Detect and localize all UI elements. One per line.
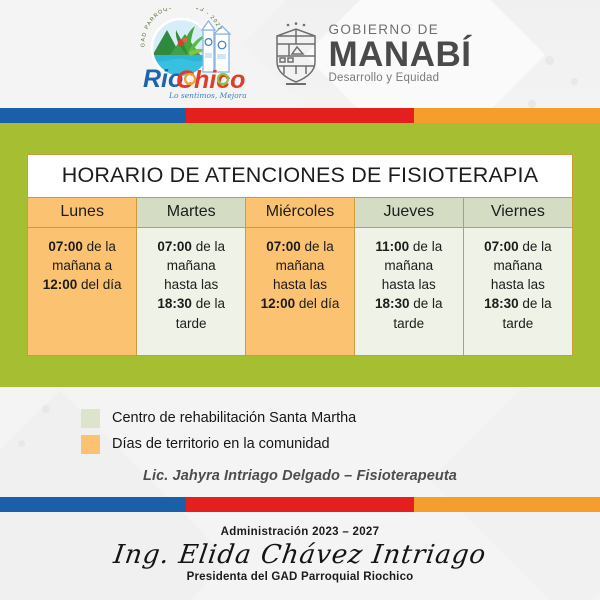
schedule-line: 18:30 de la (144, 294, 238, 313)
manabi-logo: GOBIERNO DE MANABÍ Desarrollo y Equidad (273, 22, 472, 86)
schedule-hours-martes: 07:00 de lamañanahasta las18:30 de latar… (137, 228, 246, 355)
schedule-day-header-viernes: Viernes (463, 198, 572, 228)
schedule-line: hasta las (253, 275, 347, 294)
legend-item: Días de territorio en la comunidad (81, 435, 600, 454)
schedule-time: 07:00 (48, 239, 83, 254)
signature-image: Ing. Elida Chávez Intriago (0, 540, 600, 570)
manabi-line2: MANABÍ (329, 38, 472, 71)
schedule-line: 18:30 de la (471, 294, 565, 313)
tricolor-segment-blue (0, 108, 186, 123)
schedule-line: 07:00 de la (144, 237, 238, 256)
schedule-title: HORARIO DE ATENCIONES DE FISIOTERAPIA (28, 155, 572, 198)
riochico-logo: GAD PARROQUIAL 2023 - 2027 Rio Chico Lo … (129, 8, 247, 100)
schedule-day-header-miércoles: Miércoles (246, 198, 355, 228)
tricolor-bar-top (0, 108, 600, 123)
legend-item: Centro de rehabilitación Santa Martha (81, 409, 600, 428)
schedule-time: 07:00 (157, 239, 192, 254)
schedule-time: 18:30 (375, 296, 410, 311)
tricolor-segment-red (186, 108, 414, 123)
schedule-day-header-jueves: Jueves (354, 198, 463, 228)
riochico-logo-icon: GAD PARROQUIAL 2023 - 2027 Rio Chico Lo … (129, 8, 247, 100)
schedule-time: 12:00 (261, 296, 296, 311)
schedule-line: mañana a (35, 256, 129, 275)
tricolor-segment-orange (414, 108, 600, 123)
schedule-hours-miércoles: 07:00 de lamañanahasta las12:00 del día (246, 228, 355, 355)
schedule-line: mañana (253, 256, 347, 275)
schedule-time: 11:00 (375, 239, 409, 254)
schedule-body-row: 07:00 de lamañana a12:00 del día07:00 de… (28, 228, 572, 355)
schedule-header-row: LunesMartesMiércolesJuevesViernes (28, 198, 572, 228)
schedule-time: 07:00 (266, 239, 301, 254)
administration-label: Administración 2023 – 2027 (0, 526, 600, 538)
schedule-line: 07:00 de la (253, 237, 347, 256)
tricolor-segment-red (186, 497, 414, 512)
riochico-slogan: Lo sentimos, Mejoramos (168, 91, 247, 100)
schedule-line: mañana (471, 256, 565, 275)
schedule-line: tarde (144, 314, 238, 333)
schedule-time: 12:00 (43, 277, 78, 292)
page-header: GAD PARROQUIAL 2023 - 2027 Rio Chico Lo … (0, 0, 600, 108)
schedule-line: mañana (144, 256, 238, 275)
tricolor-bar-bottom (0, 497, 600, 512)
schedule-line: 11:00 de la (362, 237, 456, 256)
legend-label: Centro de rehabilitación Santa Martha (112, 410, 356, 426)
schedule-line: 12:00 del día (35, 275, 129, 294)
legend-swatch (81, 409, 100, 428)
schedule-time: 18:30 (484, 296, 519, 311)
schedule-day-header-lunes: Lunes (28, 198, 137, 228)
schedule-hours-lunes: 07:00 de lamañana a12:00 del día (28, 228, 137, 355)
legend-label: Días de territorio en la comunidad (112, 436, 330, 452)
schedule-time: 18:30 (157, 296, 192, 311)
schedule-time: 07:00 (484, 239, 519, 254)
schedule-line: hasta las (362, 275, 456, 294)
schedule-hours-jueves: 11:00 de lamañanahasta las18:30 de latar… (354, 228, 463, 355)
schedule-line: mañana (362, 256, 456, 275)
tricolor-segment-blue (0, 497, 186, 512)
schedule-panel: HORARIO DE ATENCIONES DE FISIOTERAPIA Lu… (0, 123, 600, 387)
manabi-shield-icon (273, 22, 320, 86)
schedule-line: hasta las (144, 275, 238, 294)
schedule-line: 07:00 de la (471, 237, 565, 256)
legend-area: Centro de rehabilitación Santa MarthaDía… (0, 387, 600, 484)
therapist-name: Lic. Jahyra Intriago Delgado – Fisiotera… (0, 468, 600, 484)
position-label: Presidenta del GAD Parroquial Riochico (0, 571, 600, 583)
schedule-card: HORARIO DE ATENCIONES DE FISIOTERAPIA Lu… (27, 154, 573, 356)
schedule-line: 07:00 de la (35, 237, 129, 256)
manabi-line3: Desarrollo y Equidad (329, 73, 472, 85)
schedule-line: tarde (471, 314, 565, 333)
schedule-line: hasta las (471, 275, 565, 294)
legend-swatch (81, 435, 100, 454)
schedule-day-header-martes: Martes (137, 198, 246, 228)
tricolor-segment-orange (414, 497, 600, 512)
schedule-line: 12:00 del día (253, 294, 347, 313)
riochico-word-chico: Chico (176, 66, 245, 94)
page-footer: Administración 2023 – 2027 Ing. Elida Ch… (0, 512, 600, 583)
poster-canvas: GAD PARROQUIAL 2023 - 2027 Rio Chico Lo … (0, 0, 600, 600)
schedule-table: LunesMartesMiércolesJuevesViernes 07:00 … (28, 198, 572, 355)
schedule-line: 18:30 de la (362, 294, 456, 313)
schedule-hours-viernes: 07:00 de lamañanahasta las18:30 de latar… (463, 228, 572, 355)
schedule-line: tarde (362, 314, 456, 333)
